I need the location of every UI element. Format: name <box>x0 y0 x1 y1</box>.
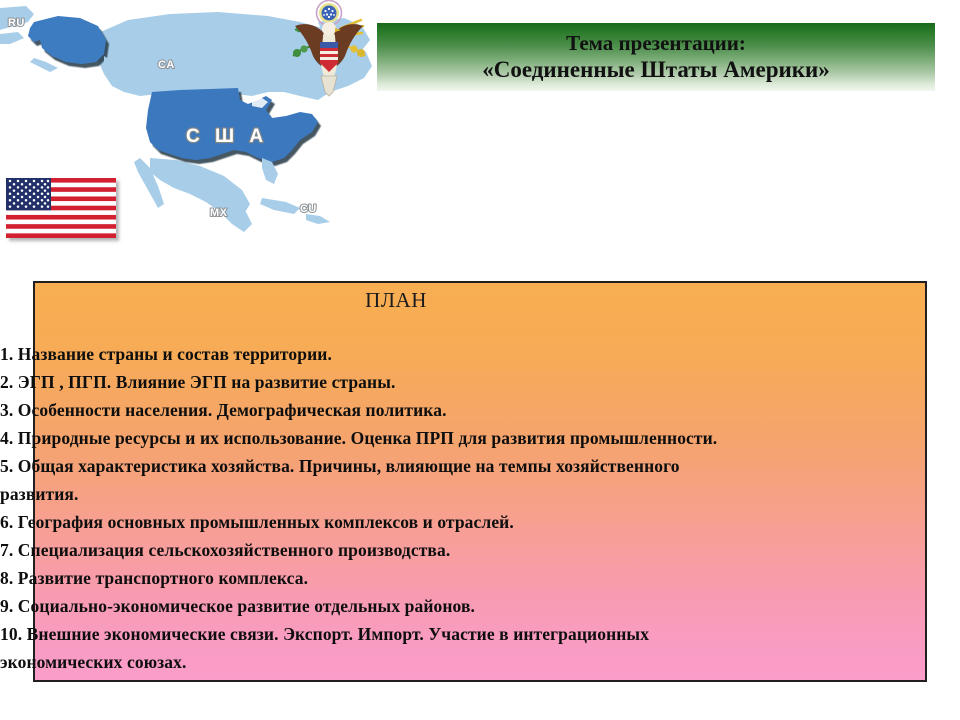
map-region-cuba <box>260 198 300 214</box>
map-region-islands <box>306 214 330 224</box>
map-label-usa: С Ш А <box>186 126 268 147</box>
plan-list-item: 5. Общая характеристика хозяйства. Причи… <box>0 452 935 508</box>
map-region-alaska <box>28 16 106 64</box>
eagle-tail <box>321 76 337 96</box>
map-region-aleutians <box>30 58 58 72</box>
presentation-slide: RU CA С Ш А MX CU <box>0 0 960 720</box>
usa-flag-image <box>6 178 116 238</box>
plan-list-item: 8. Развитие транспортного комплекса. <box>0 564 935 592</box>
map-label-ru: RU <box>8 17 25 29</box>
plan-heading: ПЛАН <box>33 288 759 313</box>
map-region-russia-2 <box>0 32 24 44</box>
plan-list-item: 4. Природные ресурсы и их использование.… <box>0 424 935 452</box>
plan-list-item: 10. Внешние экономические связи. Экспорт… <box>0 620 935 676</box>
eagle-head <box>322 22 336 35</box>
map-region-mexico-body <box>150 158 250 214</box>
flag-canton <box>6 178 51 210</box>
plan-list-item: 2. ЭГП , ПГП. Влияние ЭГП на развитие ст… <box>0 368 935 396</box>
plan-list-item: 3. Особенности населения. Демографическа… <box>0 396 935 424</box>
plan-list: 1. Название страны и состав территории.2… <box>0 340 935 676</box>
title-line-2: «Соединенные Штаты Америки» <box>482 56 830 83</box>
title-line-1: Тема презентации: <box>566 31 746 56</box>
title-banner: Тема презентации: «Соединенные Штаты Аме… <box>377 23 935 91</box>
plan-list-item: 1. Название страны и состав территории. <box>0 340 935 368</box>
map-label-mx: MX <box>210 207 228 219</box>
map-region-florida <box>262 158 278 184</box>
plan-list-item: 7. Специализация сельскохозяйственного п… <box>0 536 935 564</box>
map-label-ca: CA <box>158 59 175 71</box>
plan-list-item: 6. География основных промышленных компл… <box>0 508 935 536</box>
map-label-cu: CU <box>300 203 317 215</box>
plan-list-item: 9. Социально-экономическое развитие отде… <box>0 592 935 620</box>
great-seal-emblem-icon <box>283 0 375 100</box>
